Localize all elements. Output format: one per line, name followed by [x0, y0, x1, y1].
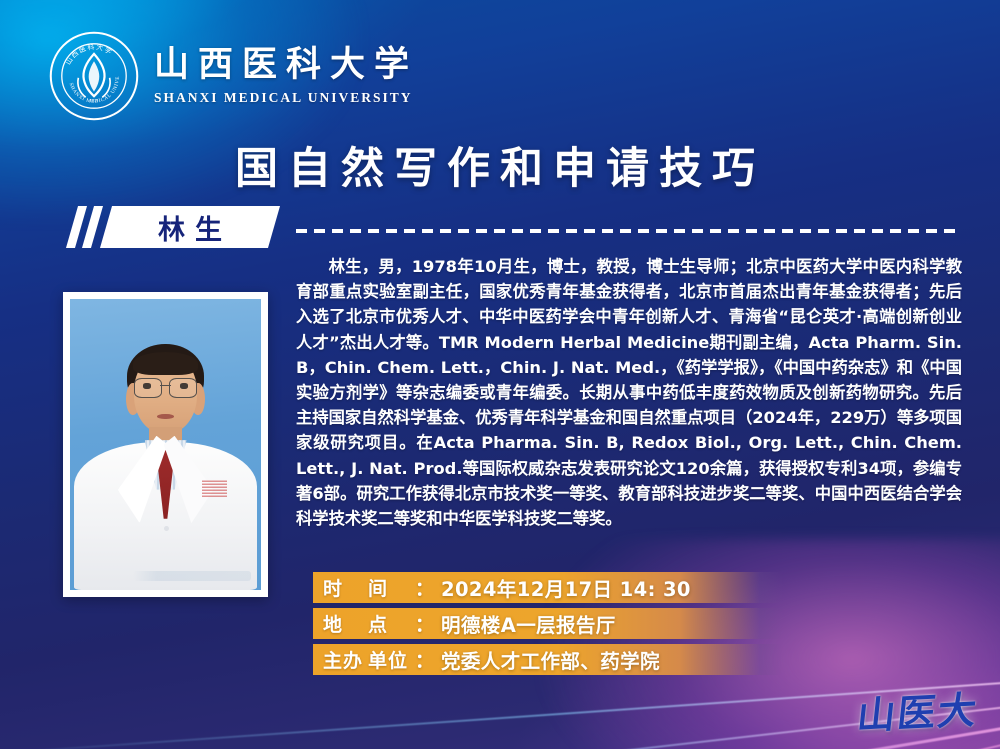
- university-name-cn: 山西医科大学: [154, 46, 418, 85]
- info-row-time: 时 间 ： 2024年12月17日 14: 30: [313, 572, 783, 603]
- speaker-bio: 林生，男，1978年10月生，博士，教授，博士生导师；北京中医药大学中医内科学教…: [296, 254, 962, 531]
- info-label-organizer: 主办 单位 ：: [313, 646, 435, 673]
- photo-glasses-left: [134, 378, 162, 398]
- info-label-organizer-b: 单位: [368, 646, 408, 673]
- info-colon-organizer: ：: [415, 646, 435, 673]
- university-wordmark: 山西医科大学 SHANXI MEDICAL UNIVERSITY: [154, 46, 418, 105]
- light-arc-3: [320, 0, 1000, 152]
- photo-glasses-right: [169, 378, 197, 398]
- info-label-time-b: 间: [368, 574, 388, 601]
- speaker-name-tag: 林生: [62, 204, 277, 250]
- svg-text:山西医科大学: 山西医科大学: [63, 42, 114, 66]
- photo-chest-badge: [202, 479, 227, 496]
- script-logo: 山医大: [855, 679, 982, 740]
- photo-glasses-bridge: [160, 385, 171, 387]
- photo-watermark: [133, 571, 251, 581]
- info-row-location: 地 点 ： 明德楼A一层报告厅: [313, 608, 783, 639]
- info-label-time-a: 时: [323, 574, 343, 601]
- page-title: 国自然写作和申请技巧: [0, 134, 1000, 196]
- dashed-divider: [296, 229, 956, 233]
- university-name-en: SHANXI MEDICAL UNIVERSITY: [154, 90, 418, 106]
- university-branding: 山西医科大学 SHANXI MEDICAL UNIVERSITY 1919 山西…: [48, 30, 418, 122]
- info-label-organizer-a: 主办: [323, 646, 363, 673]
- speaker-photo: [70, 299, 261, 590]
- info-label-location: 地 点 ：: [313, 610, 435, 637]
- info-label-location-b: 点: [368, 610, 388, 637]
- photo-coat-button: [164, 526, 169, 531]
- info-row-organizer: 主办 单位 ： 党委人才工作部、药学院: [313, 644, 783, 675]
- speaker-photo-frame: [63, 292, 268, 597]
- info-colon-location: ：: [415, 610, 435, 637]
- info-label-location-a: 地: [323, 610, 343, 637]
- info-value-time: 2024年12月17日 14: 30: [441, 573, 691, 602]
- speaker-bio-text: 林生，男，1978年10月生，博士，教授，博士生导师；北京中医药大学中医内科学教…: [296, 254, 962, 531]
- poster-canvas: 山西医科大学 SHANXI MEDICAL UNIVERSITY 1919 山西…: [0, 0, 1000, 749]
- info-label-time: 时 间 ：: [313, 574, 435, 601]
- university-seal-icon: 山西医科大学 SHANXI MEDICAL UNIVERSITY 1919: [48, 30, 140, 122]
- event-info-list: 时 间 ： 2024年12月17日 14: 30 地 点 ： 明德楼A一层报告厅…: [313, 572, 783, 680]
- svg-text:1919: 1919: [90, 98, 98, 103]
- speaker-name: 林生: [106, 206, 274, 248]
- info-colon-time: ：: [415, 574, 435, 601]
- info-value-location: 明德楼A一层报告厅: [441, 609, 616, 638]
- photo-hair-front: [133, 352, 198, 375]
- info-value-organizer: 党委人才工作部、药学院: [441, 645, 660, 674]
